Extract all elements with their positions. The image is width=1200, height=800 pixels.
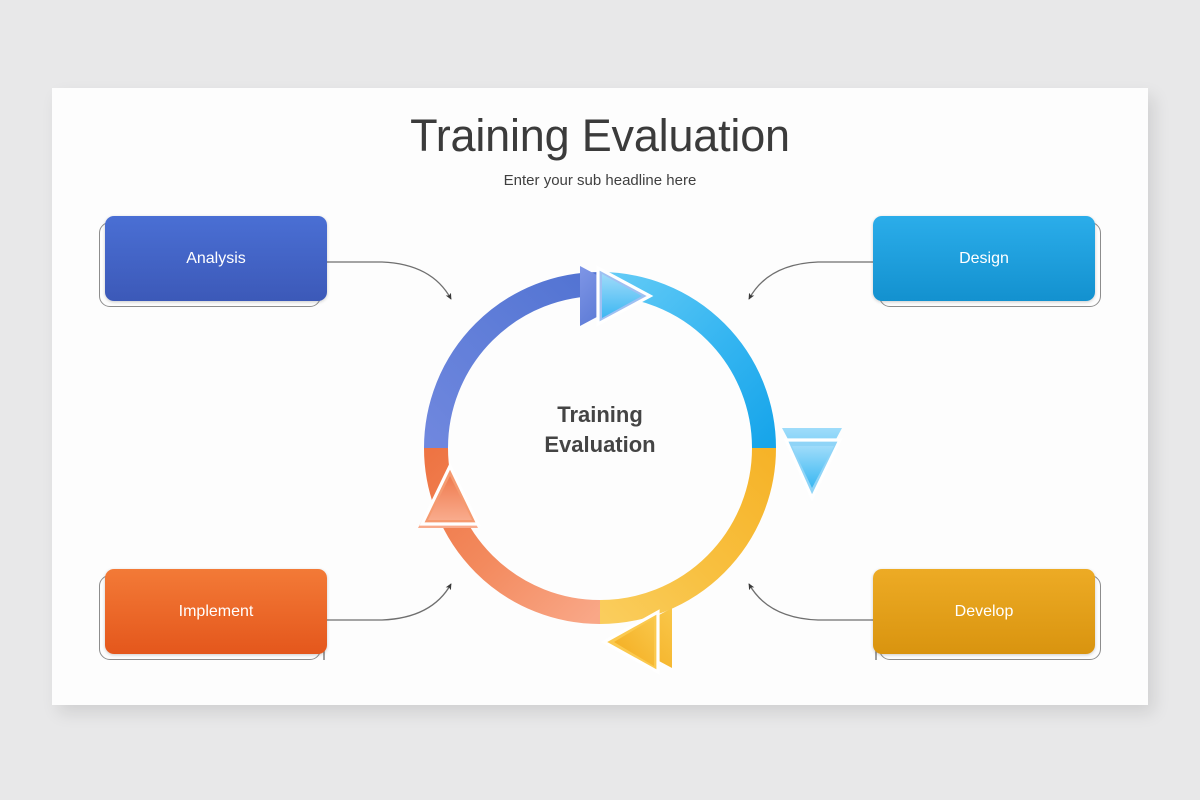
- node-analysis[interactable]: Analysis: [99, 222, 321, 307]
- connector-develop: [749, 584, 876, 660]
- node-implement[interactable]: Implement: [99, 575, 321, 660]
- connector-analysis: [324, 222, 451, 299]
- connector-design: [749, 222, 876, 299]
- center-label: Training Evaluation: [500, 400, 700, 459]
- cycle-arrowhead-right: [782, 428, 842, 498]
- arc-segment-implement: [436, 448, 600, 612]
- node-design-label: Design: [959, 250, 1009, 268]
- node-design-chip[interactable]: Design: [873, 216, 1095, 301]
- node-develop-label: Develop: [955, 603, 1014, 621]
- node-develop-chip[interactable]: Develop: [873, 569, 1095, 654]
- node-implement-chip[interactable]: Implement: [105, 569, 327, 654]
- node-analysis-label: Analysis: [186, 250, 246, 268]
- arc-segment-develop: [600, 448, 764, 612]
- slide-canvas: Training Evaluation Enter your sub headl…: [52, 88, 1148, 705]
- node-design[interactable]: Design: [879, 222, 1101, 307]
- node-develop[interactable]: Develop: [879, 575, 1101, 660]
- center-label-line1: Training: [500, 400, 700, 430]
- node-analysis-chip[interactable]: Analysis: [105, 216, 327, 301]
- connector-implement: [324, 584, 451, 660]
- center-label-line2: Evaluation: [500, 430, 700, 460]
- node-implement-label: Implement: [179, 603, 254, 621]
